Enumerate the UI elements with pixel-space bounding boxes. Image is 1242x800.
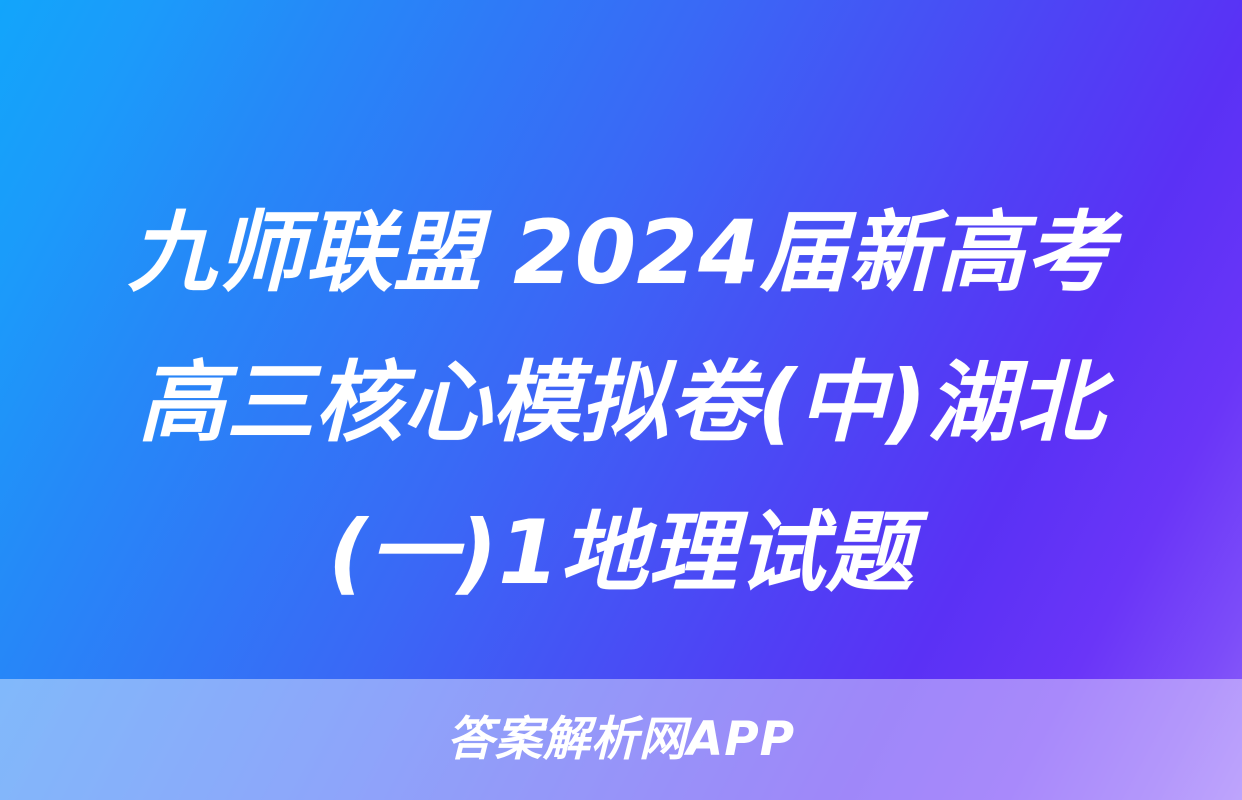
title-line-3: (一)1地理试题 — [70, 478, 1172, 628]
page-title: 九师联盟 2024届新高考 高三核心模拟卷(中)湖北 (一)1地理试题 — [0, 178, 1242, 628]
exam-cover-poster: 九师联盟 2024届新高考 高三核心模拟卷(中)湖北 (一)1地理试题 答案解析… — [0, 0, 1242, 800]
title-line-1: 九师联盟 2024届新高考 — [70, 178, 1172, 328]
title-line-2: 高三核心模拟卷(中)湖北 — [70, 328, 1172, 478]
watermark-label: 答案解析网APP — [447, 716, 795, 763]
watermark-band: 答案解析网APP — [0, 679, 1242, 800]
